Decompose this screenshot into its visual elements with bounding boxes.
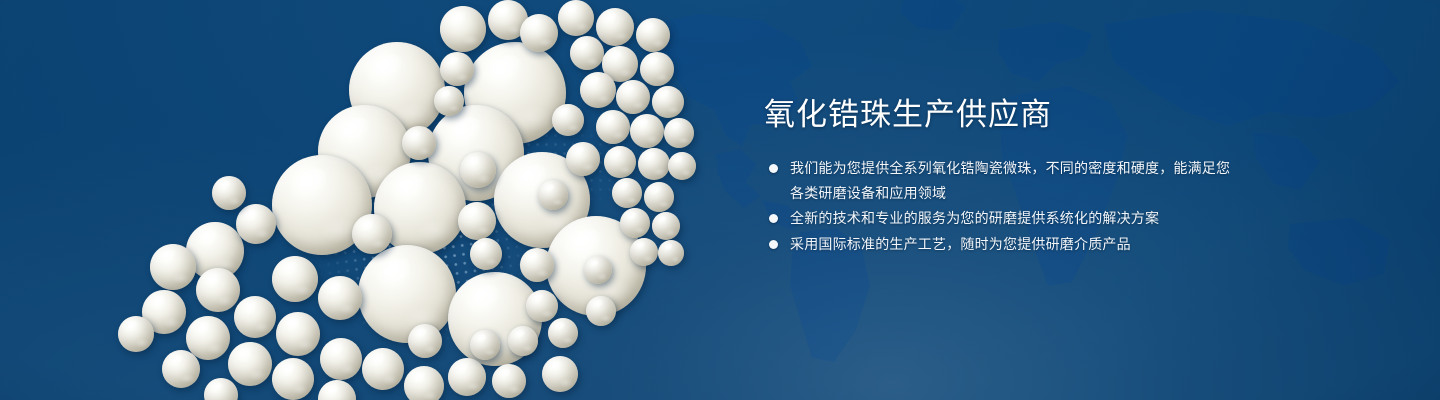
banner-vignette — [0, 0, 1440, 400]
hero-banner: 氧化锆珠生产供应商 我们能为您提供全系列氧化锆陶瓷微珠，不同的密度和硬度，能满足… — [0, 0, 1440, 400]
